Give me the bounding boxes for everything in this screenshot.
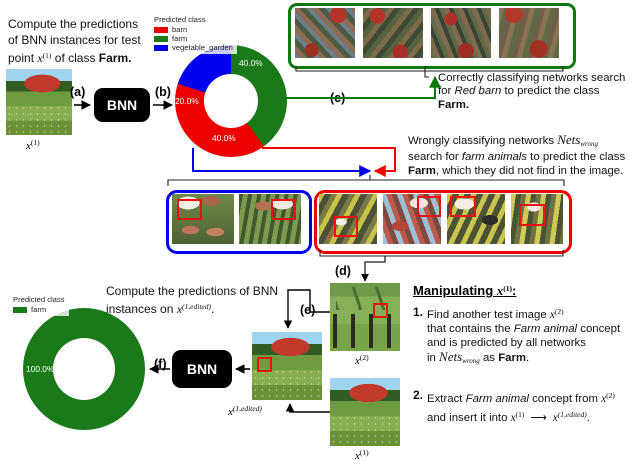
- step2-line-1: Extract Farm animal concept from x(2): [427, 388, 615, 407]
- x1e-sup: (1,edited): [233, 404, 262, 413]
- label-b: (b): [155, 85, 171, 99]
- annotation-wrong-line-2: search for farm animals to predict the c…: [408, 151, 640, 164]
- s2-x1e-sup: (1,edited): [558, 410, 587, 419]
- bnn-box-top: BNN: [94, 88, 150, 122]
- intro-line-1: Compute the predictions: [8, 16, 158, 32]
- step1-line-4: in Netswrong as Farm.: [427, 350, 620, 368]
- s1-nets: Nets: [439, 349, 462, 364]
- image-x2-label: x(2): [355, 353, 369, 367]
- highlight-box-red-1: [334, 216, 358, 237]
- step1-line-1: Find another test image x(2): [427, 305, 620, 322]
- s1-x2-sup: (2): [555, 307, 564, 316]
- step1-num: 1.: [413, 305, 423, 368]
- s2-arrow: ⟶: [524, 412, 552, 424]
- legend-swatch-vegetable-garden: [154, 45, 168, 51]
- x2-sup: (2): [360, 353, 369, 362]
- s2-x2-sup: (2): [606, 391, 615, 400]
- donut-top-pct-barn: 40.0%: [212, 133, 236, 143]
- cb-x-sup: (1,edited): [182, 302, 211, 311]
- image-x1-input: [6, 69, 72, 135]
- intro-line-3: point x(1) of class Farm.: [8, 48, 158, 66]
- bnn-label-bottom: BNN: [187, 361, 217, 377]
- highlight-box-blue-1: [177, 199, 202, 220]
- aw-nets-sub: wrong: [580, 140, 598, 148]
- x1-sup: (1): [31, 138, 40, 147]
- legend-top-title: Predicted class: [154, 15, 233, 24]
- label-a: (a): [70, 85, 85, 99]
- mh-b: :: [512, 283, 516, 298]
- s1-farm-animal: Farm animal: [514, 323, 577, 335]
- image-x1-bottom-label: x(1): [355, 448, 369, 462]
- donut-bottom-pct-farm: 100.0%: [26, 364, 54, 374]
- annotation-correct-line-1: Correctly classifying networks search: [438, 72, 640, 85]
- mh-sup: (1): [503, 284, 512, 293]
- s2l2b: .: [587, 412, 590, 424]
- ac-l2b: to predict the class: [501, 85, 599, 97]
- image-x1-bottom: [330, 378, 400, 446]
- step2-num: 2.: [413, 388, 423, 426]
- x1b-sup: (1): [360, 448, 369, 457]
- aw-l2b: to predict the class: [527, 151, 625, 163]
- s1-nets-sub: wrong: [462, 357, 480, 365]
- s1l4b: as: [480, 352, 498, 364]
- s1l4a: in: [427, 352, 439, 364]
- highlight-box-x1-edited: [257, 357, 272, 372]
- feature-viz-correct-3: [431, 8, 491, 58]
- feature-viz-correct-1: [295, 8, 355, 58]
- feature-viz-correct-4: [499, 8, 559, 58]
- label-e: (e): [300, 303, 315, 317]
- donut-top-pct-veg: 20.0%: [175, 96, 199, 106]
- manipulate-step-1: 1. Find another test image x(2) that con…: [413, 305, 640, 368]
- manipulate-step-2: 2. Extract Farm animal concept from x(2)…: [413, 388, 640, 426]
- highlight-box-red-2: [417, 196, 441, 217]
- highlight-box-red-4: [519, 204, 545, 226]
- ac-red-barn: Red barn: [454, 85, 501, 97]
- s1l4c: .: [526, 352, 529, 364]
- compute-bottom-line-2: instances on x(1,edited).: [106, 299, 296, 317]
- legend-bottom-item-farm: farm: [13, 305, 65, 314]
- legend-item-farm: farm: [154, 34, 233, 43]
- intro-line3-b: of class: [51, 51, 98, 65]
- aw-nets: Nets: [557, 132, 580, 147]
- legend-bottom: Predicted class farm: [9, 293, 69, 316]
- step1-line-3: and is predicted by all networks: [427, 336, 620, 350]
- donut-hole-bottom: [53, 338, 115, 400]
- highlight-box-blue-2: [271, 199, 296, 220]
- annotation-correct: Correctly classifying networks search fo…: [438, 72, 640, 112]
- legend-top: Predicted class barn farm vegetable_gard…: [150, 13, 237, 54]
- step2-line-2: and insert it into x(1)⟶x(1,edited).: [427, 407, 615, 426]
- s1l2a: that contains the: [427, 323, 514, 335]
- legend-bottom-label-farm: farm: [31, 305, 46, 314]
- annotation-correct-line-3: Farm.: [438, 99, 640, 112]
- image-x2: [330, 283, 400, 351]
- bnn-box-bottom: BNN: [172, 350, 232, 388]
- s1l1a: Find another test image: [427, 309, 550, 321]
- legend-label-farm: farm: [172, 34, 187, 43]
- donut-top-pct-farm: 40.0%: [239, 58, 263, 68]
- highlight-box-x2: [373, 303, 388, 318]
- legend-label-vegetable-garden: vegetable_garden: [172, 43, 233, 52]
- annotation-wrong-line-1: Wrongly classifying networks Netswrong: [408, 133, 640, 151]
- mh-a: Manipulating: [413, 283, 497, 298]
- label-f: (f): [154, 357, 167, 371]
- legend-bottom-swatch-farm: [13, 307, 27, 313]
- legend-bottom-title: Predicted class: [13, 295, 65, 304]
- intro-line-2: of BNN instances for test: [8, 32, 158, 48]
- aw-farm-animals: farm animals: [462, 151, 527, 163]
- annotation-correct-line-2: for Red barn to predict the class: [438, 85, 640, 98]
- intro-text: Compute the predictions of BNN instances…: [8, 16, 158, 66]
- s1l2b: concept: [577, 323, 620, 335]
- s2l1a: Extract: [427, 393, 466, 405]
- legend-item-vegetable-garden: vegetable_garden: [154, 43, 233, 52]
- aw-l3rest: , which they did not find in the image.: [436, 165, 623, 177]
- intro-farm-bold: Farm.: [99, 51, 132, 65]
- annotation-wrong-line-3: Farm, which they did not find in the ima…: [408, 165, 640, 178]
- aw-l1a: Wrongly classifying networks: [408, 135, 557, 147]
- legend-item-barn: barn: [154, 25, 233, 34]
- cb-l2a: instances on: [106, 302, 177, 316]
- legend-swatch-farm: [154, 36, 168, 42]
- aw-farm-bold: Farm: [408, 165, 436, 177]
- cb-l2b: .: [211, 302, 214, 316]
- compute-bottom-line-1: Compute the predictions of BNN: [106, 283, 296, 299]
- step1-line-2: that contains the Farm animal concept: [427, 322, 620, 336]
- legend-label-barn: barn: [172, 25, 187, 34]
- highlight-box-red-3: [450, 196, 476, 217]
- label-d: (d): [335, 264, 351, 278]
- s1-farm-bold: Farm: [498, 352, 526, 364]
- aw-l2a: search for: [408, 151, 462, 163]
- label-c: (c): [330, 91, 345, 105]
- feature-viz-correct-2: [363, 8, 423, 58]
- image-x1-edited-label: x(1,edited): [228, 404, 262, 418]
- s2l2a: and insert it into: [427, 412, 511, 424]
- bnn-label-top: BNN: [107, 97, 137, 113]
- compute-bottom-text: Compute the predictions of BNN instances…: [106, 283, 296, 317]
- donut-hole-top: [204, 74, 258, 128]
- image-x1-input-label: x(1): [26, 138, 40, 152]
- intro-line3-a: point: [8, 51, 37, 65]
- manipulate-heading: Manipulating x(1):: [413, 283, 516, 299]
- legend-swatch-barn: [154, 27, 168, 33]
- s2l1b: concept from: [529, 393, 601, 405]
- annotation-wrong: Wrongly classifying networks Netswrong s…: [408, 133, 640, 178]
- ac-l2a: for: [438, 85, 454, 97]
- s2-farm-animal: Farm animal: [466, 393, 529, 405]
